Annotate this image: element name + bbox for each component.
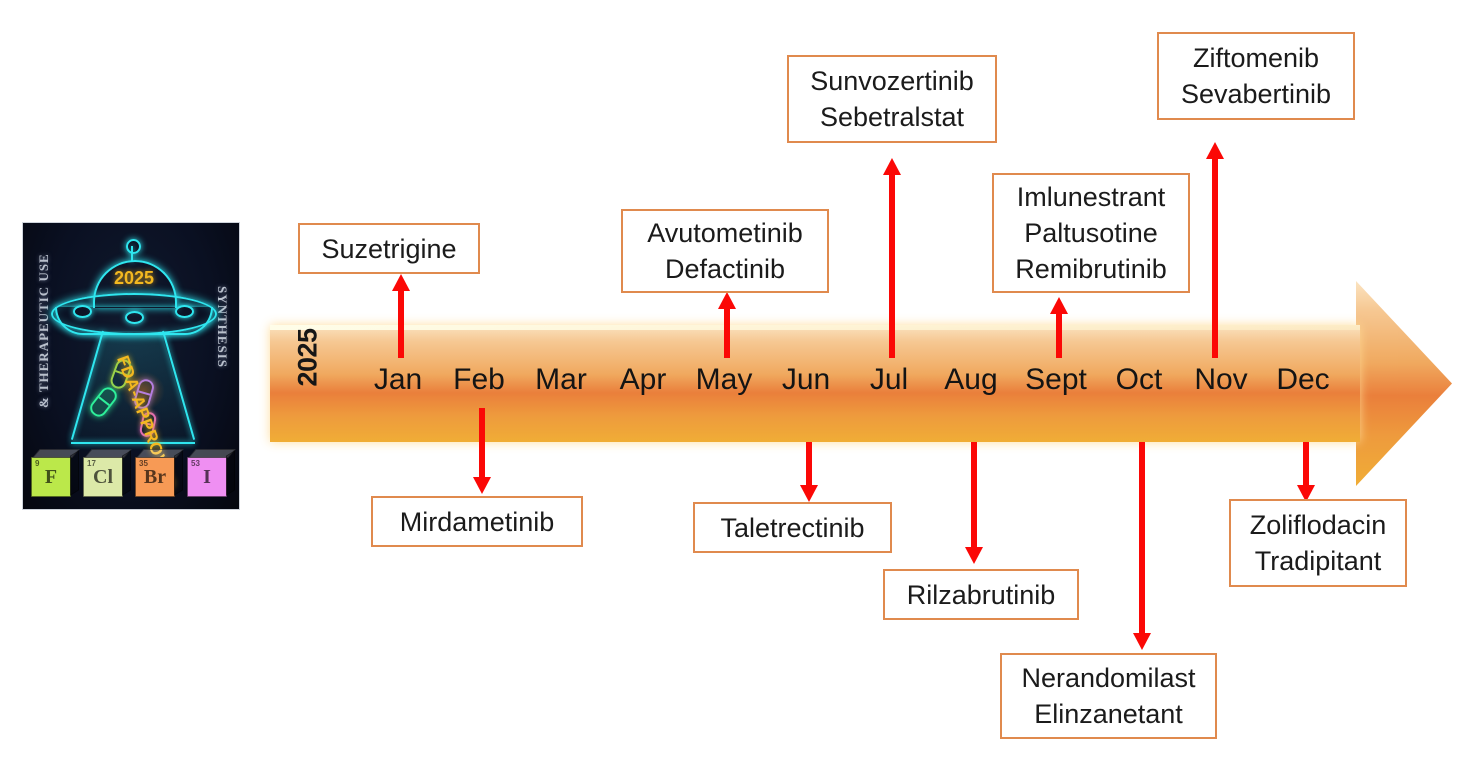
drug-name: Defactinib [665, 251, 785, 287]
drug-box-avutometinib[interactable]: Avutometinib Defactinib [621, 209, 829, 293]
drug-box-suzetrigine[interactable]: Suzetrigine [298, 223, 480, 274]
drug-name: Rilzabrutinib [907, 577, 1056, 613]
connector-arrow-sept [1050, 297, 1068, 358]
drug-box-rilzabrutinib[interactable]: Rilzabrutinib [883, 569, 1079, 620]
connector-arrow-feb [473, 408, 491, 494]
connector-arrow-nov [1206, 142, 1224, 358]
drug-name: Elinzanetant [1034, 696, 1183, 732]
drug-box-imlunestrant[interactable]: Imlunestrant Paltusotine Remibrutinib [992, 173, 1190, 293]
drug-name: Sunvozertinib [810, 63, 974, 99]
drug-box-sunvozertinib[interactable]: Sunvozertinib Sebetralstat [787, 55, 997, 143]
ufo-antenna-ball-icon [126, 239, 141, 254]
month-label-jan: Jan [353, 363, 443, 397]
connector-arrow-dec [1297, 442, 1315, 502]
drug-name: Sevabertinib [1181, 76, 1331, 112]
month-label-feb: Feb [434, 363, 524, 397]
element-symbol: I [188, 466, 226, 489]
drug-box-taletrectinib[interactable]: Taletrectinib [693, 502, 892, 553]
drug-name: Remibrutinib [1015, 251, 1167, 287]
connector-arrow-jan [392, 274, 410, 358]
month-label-sept: Sept [1011, 363, 1101, 397]
drug-box-zoliflodacin[interactable]: Zoliflodacin Tradipitant [1229, 499, 1407, 587]
drug-name: Ziftomenib [1193, 40, 1319, 76]
connector-arrow-may [718, 292, 736, 358]
month-label-oct: Oct [1094, 363, 1184, 397]
drug-name: Nerandomilast [1021, 660, 1195, 696]
month-label-jun: Jun [761, 363, 851, 397]
month-label-apr: Apr [598, 363, 688, 397]
month-label-aug: Aug [926, 363, 1016, 397]
drug-name: Sebetralstat [820, 99, 964, 135]
therapeutic-use-caption: & THERAPEUTIC USE [36, 278, 52, 408]
halogen-element-blocks: 9 F 17 Cl 35 Br 53 I [23, 445, 240, 501]
timeline-arrow-head [1356, 281, 1452, 486]
element-block-chlorine: 17 Cl [83, 457, 123, 497]
ufo-porthole-icon [175, 305, 194, 318]
month-label-mar: Mar [516, 363, 606, 397]
drug-box-nerandomilast[interactable]: Nerandomilast Elinzanetant [1000, 653, 1217, 739]
drug-name: Avutometinib [647, 215, 803, 251]
drug-box-ziftomenib[interactable]: Ziftomenib Sevabertinib [1157, 32, 1355, 120]
element-symbol: F [32, 466, 70, 489]
drug-name: Tradipitant [1255, 543, 1382, 579]
ufo-year-text: 2025 [101, 268, 167, 289]
drug-name: Zoliflodacin [1250, 507, 1387, 543]
drug-name: Taletrectinib [720, 510, 864, 546]
element-symbol: Br [136, 466, 174, 489]
drug-name: Suzetrigine [321, 231, 456, 267]
month-label-nov: Nov [1176, 363, 1266, 397]
synthesis-caption: SYNTHESIS [214, 272, 230, 382]
connector-arrow-jun [800, 442, 818, 502]
month-label-dec: Dec [1258, 363, 1348, 397]
ufo-porthole-icon [73, 305, 92, 318]
month-label-may: May [679, 363, 769, 397]
connector-arrow-oct [1133, 442, 1151, 650]
drug-name: Mirdametinib [400, 504, 555, 540]
element-block-bromine: 35 Br [135, 457, 175, 497]
ufo-porthole-icon [125, 311, 144, 324]
element-symbol: Cl [84, 466, 122, 489]
drug-box-mirdametinib[interactable]: Mirdametinib [371, 496, 583, 547]
element-block-iodine: 53 I [187, 457, 227, 497]
ufo-beam-edge-bottom [71, 442, 195, 444]
timeline-infographic: & THERAPEUTIC USE SYNTHESIS 2025 FDA-APP… [0, 0, 1470, 776]
timeline-arrow-highlight [270, 325, 1360, 330]
connector-arrow-jul [883, 158, 901, 358]
connector-arrow-aug [965, 442, 983, 564]
timeline-year-label: 2025 [293, 318, 324, 398]
month-label-jul: Jul [844, 363, 934, 397]
drug-name: Paltusotine [1024, 215, 1158, 251]
fda-approved-ufo-thumbnail: & THERAPEUTIC USE SYNTHESIS 2025 FDA-APP… [22, 222, 240, 510]
drug-name: Imlunestrant [1017, 179, 1166, 215]
element-block-fluorine: 9 F [31, 457, 71, 497]
